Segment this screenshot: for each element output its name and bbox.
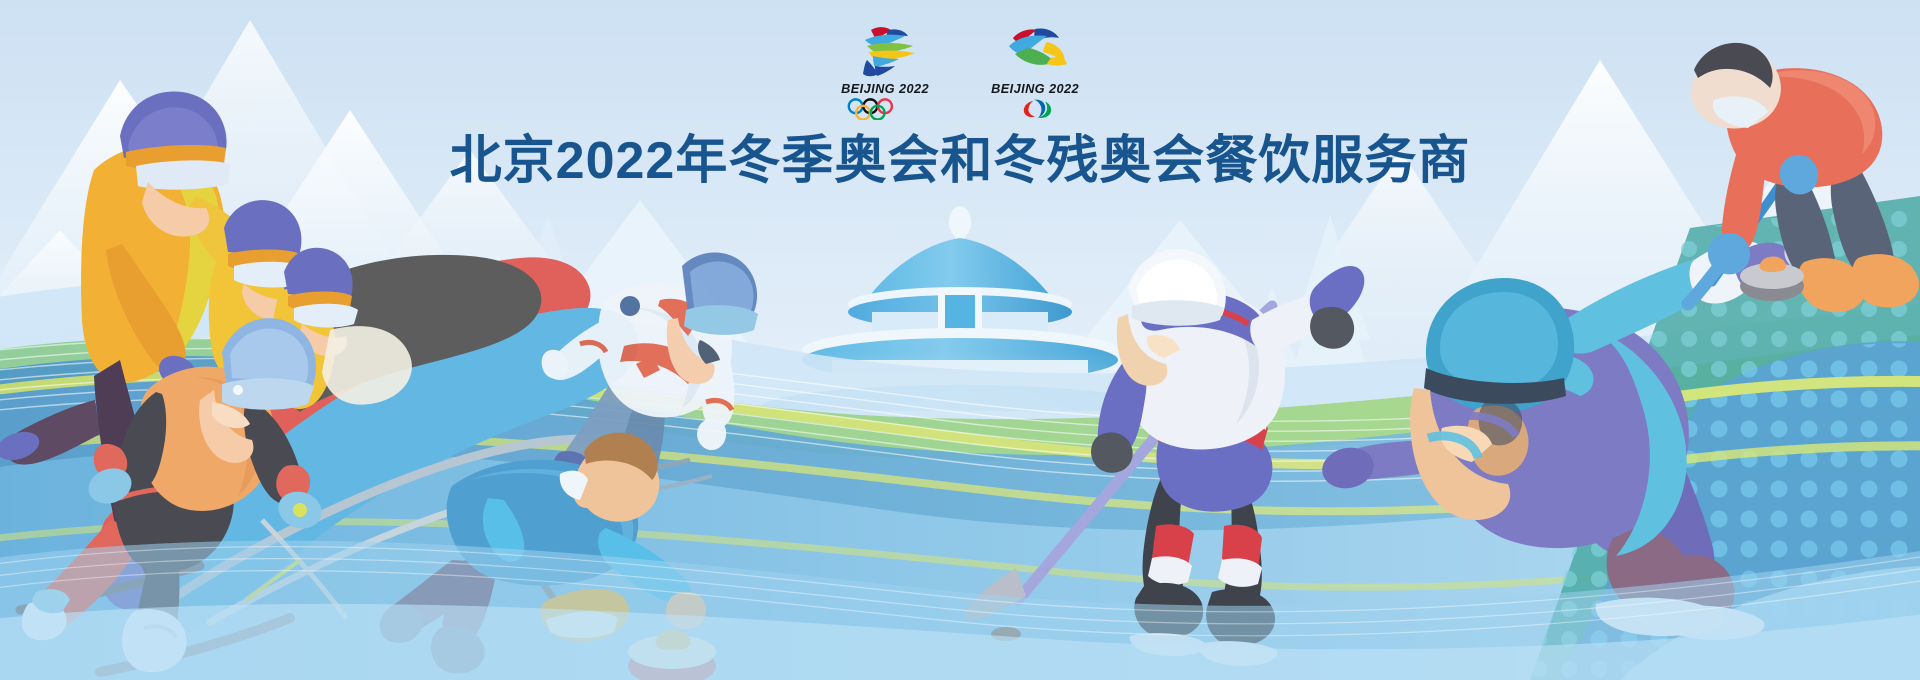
page-title: 北京2022年冬季奥会和冬残奥会餐饮服务商 [0,118,1920,193]
paralympic-emblem: BEIJING 2022 [980,22,1090,120]
olympic-emblem: BEIJING 2022 [830,22,940,120]
agitos-icon [991,98,1079,120]
olympic-emblem-mark [845,22,925,80]
emblem-row: BEIJING 2022 BEIJING 2022 [0,22,1920,120]
paralympic-emblem-mark [995,22,1075,80]
olympic-rings-icon [841,98,929,120]
olympic-wordmark: BEIJING 2022 [841,82,929,96]
olympic-banner: BEIJING 2022 BEIJING 2022 [0,0,1920,680]
paralympic-wordmark: BEIJING 2022 [991,82,1079,96]
